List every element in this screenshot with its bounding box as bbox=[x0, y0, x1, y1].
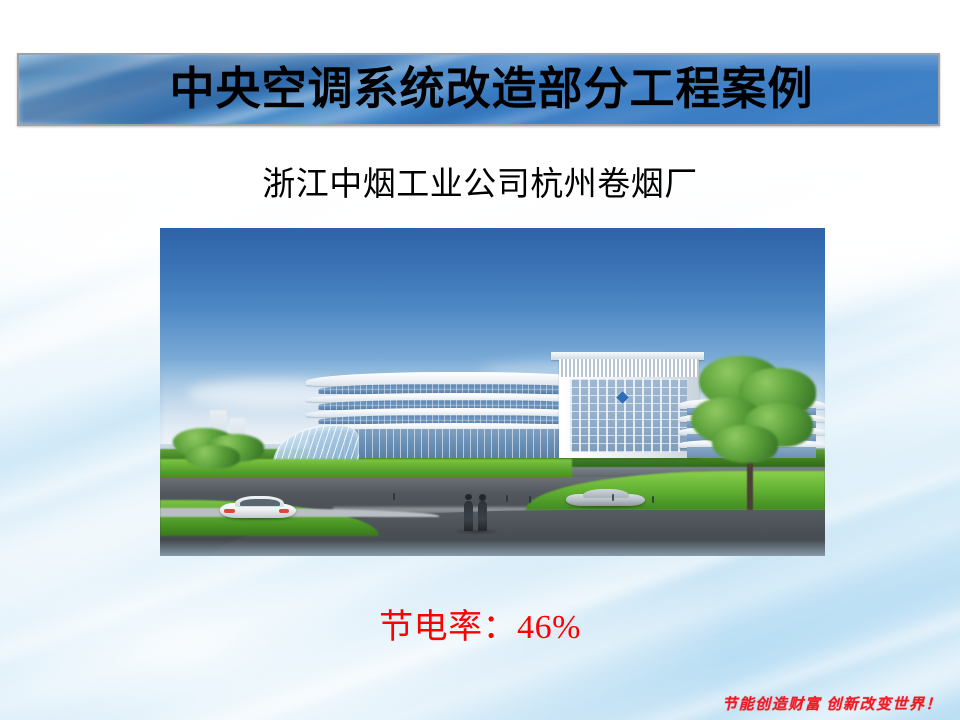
pedestrian-body bbox=[464, 501, 473, 531]
title-banner: 中央空调系统改造部分工程案例 bbox=[17, 53, 940, 126]
tree-foliage bbox=[185, 445, 241, 469]
distant-pedestrian bbox=[529, 496, 531, 503]
pedestrian-head bbox=[479, 494, 486, 501]
tree-foliage bbox=[712, 425, 779, 463]
car-taillight bbox=[279, 509, 290, 512]
tower-fins bbox=[559, 359, 699, 377]
tower-window-grid bbox=[570, 379, 687, 452]
foreground-tree bbox=[685, 353, 818, 510]
building-photo bbox=[160, 228, 825, 556]
silver-car bbox=[566, 487, 646, 508]
distant-pedestrian bbox=[612, 494, 614, 501]
pedestrian-body bbox=[478, 501, 487, 531]
footer-slogan: 节能创造财富 创新改变世界！ bbox=[722, 693, 942, 714]
slide-subtitle: 浙江中烟工业公司杭州卷烟厂 bbox=[0, 166, 960, 206]
photo-bottom-haze bbox=[160, 540, 825, 556]
white-car bbox=[220, 495, 296, 520]
distant-pedestrian bbox=[393, 493, 395, 500]
distant-pedestrian bbox=[506, 495, 508, 502]
car-roof bbox=[583, 489, 629, 498]
pedestrian-shadow bbox=[457, 530, 496, 533]
background-tree-left bbox=[167, 425, 267, 477]
pedestrian-head bbox=[465, 494, 472, 501]
car-window bbox=[240, 499, 281, 506]
pedestrians bbox=[463, 494, 491, 533]
car-taillight bbox=[224, 509, 235, 512]
distant-pedestrian bbox=[652, 496, 654, 503]
power-saving-rate: 节电率：46% bbox=[0, 608, 960, 649]
building-tower bbox=[559, 359, 699, 457]
slide-title: 中央空调系统改造部分工程案例 bbox=[19, 55, 938, 124]
tower-glass bbox=[570, 379, 687, 452]
presentation-slide: 中央空调系统改造部分工程案例 浙江中烟工业公司杭州卷烟厂 bbox=[0, 0, 960, 720]
